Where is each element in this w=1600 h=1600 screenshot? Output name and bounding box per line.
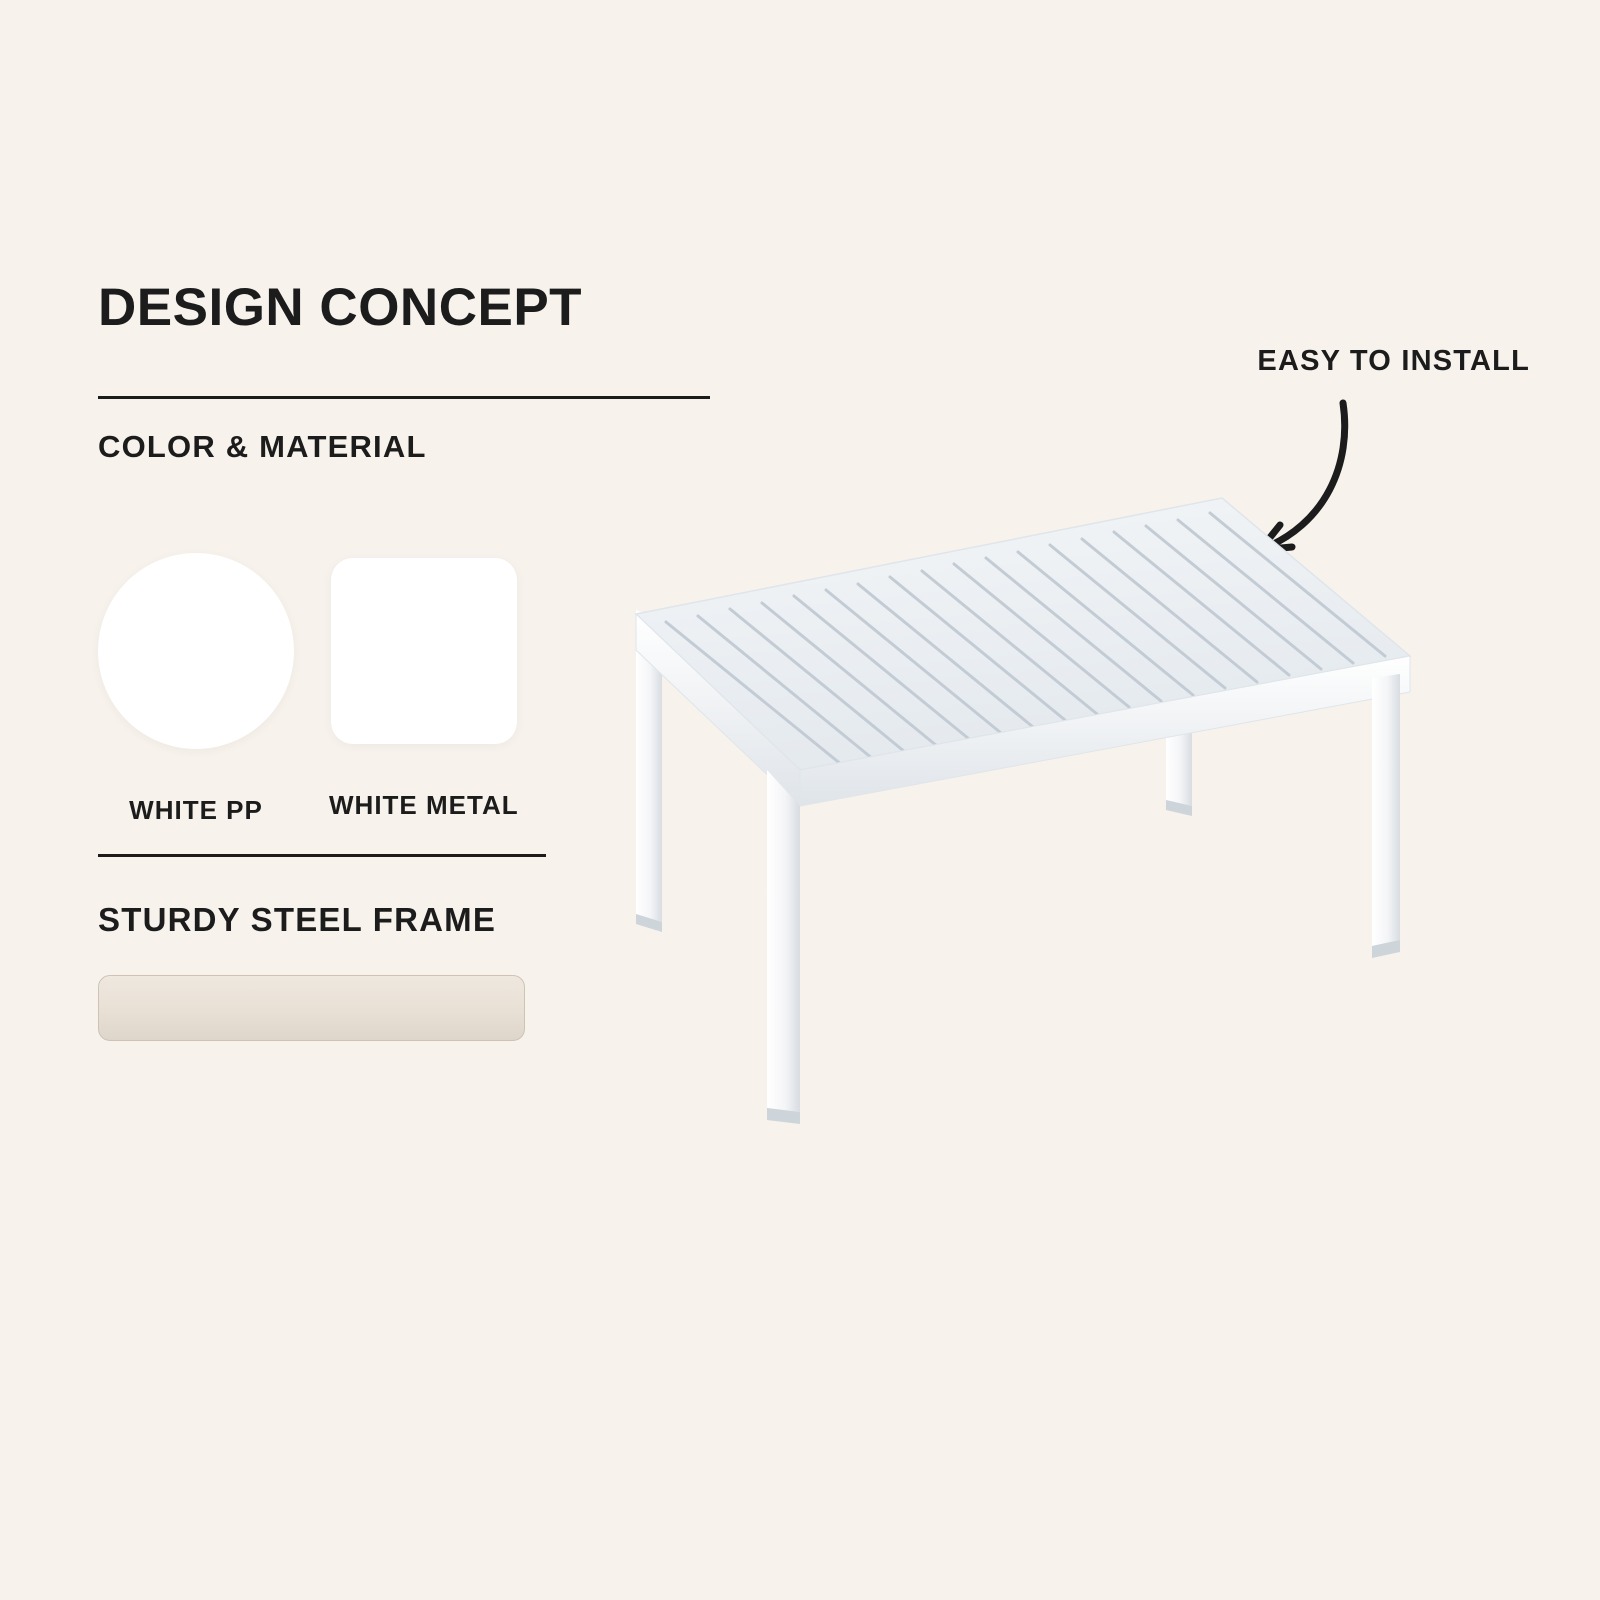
design-concept-page: DESIGN CONCEPT COLOR & MATERIAL WHITE PP… bbox=[0, 0, 1600, 1600]
table-leg-front-left bbox=[767, 770, 800, 1124]
left-info-panel: DESIGN CONCEPT COLOR & MATERIAL WHITE PP… bbox=[98, 280, 558, 1041]
swatch-circle-white-pp bbox=[98, 553, 294, 749]
callout-label: EASY TO INSTALL bbox=[1257, 345, 1530, 378]
product-illustration bbox=[600, 470, 1500, 1170]
swatch-square-white-metal bbox=[331, 558, 517, 744]
swatch-divider bbox=[98, 854, 546, 857]
swatch-label-white-metal: WHITE METAL bbox=[329, 790, 519, 821]
section-title-steel-frame: STURDY STEEL FRAME bbox=[98, 901, 558, 939]
page-title: DESIGN CONCEPT bbox=[98, 280, 558, 336]
swatch-item-white-metal: WHITE METAL bbox=[329, 553, 519, 821]
swatch-item-white-pp: WHITE PP bbox=[98, 553, 294, 826]
swatch-row: WHITE PP WHITE METAL bbox=[98, 553, 558, 826]
swatch-label-white-pp: WHITE PP bbox=[129, 795, 263, 826]
title-divider bbox=[98, 396, 710, 399]
callout-easy-to-install: EASY TO INSTALL bbox=[1257, 345, 1530, 378]
section-title-color-material: COLOR & MATERIAL bbox=[98, 429, 558, 465]
table-leg-front-right bbox=[1372, 674, 1400, 958]
steel-frame-swatch bbox=[98, 975, 525, 1041]
